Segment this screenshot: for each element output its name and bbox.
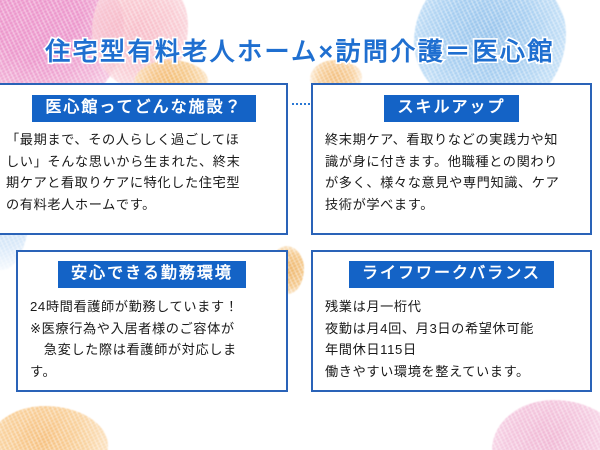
card-facility-banner-row: 医心館ってどんな施設？ [0, 95, 286, 122]
card-balance-banner-row: ライフワークバランス [313, 261, 590, 288]
card-facility: 医心館ってどんな施設？ 「最期まで、その人らしく過ごしてほ しい」そんな思いから… [0, 83, 288, 235]
card-workplace-heading: 安心できる勤務環境 [58, 261, 246, 288]
card-workplace-banner-row: 安心できる勤務環境 [18, 261, 286, 288]
card-workplace-body: 24時間看護師が勤務しています！ ※医療行為や入居者様のご容体が 急変した際は看… [18, 296, 286, 382]
card-skill: スキルアップ 終末期ケア、看取りなどの実践力や知 識が身に付きます。他職種との関… [311, 83, 592, 235]
page-title: 住宅型有料老人ホーム×訪問介護＝医心館 [0, 32, 600, 68]
card-facility-body: 「最期まで、その人らしく過ごしてほ しい」そんな思いから生まれた、終末 期ケアと… [0, 129, 286, 215]
card-balance-body: 残業は月一桁代 夜勤は月4回、月3日の希望休可能 年間休日115日 働きやすい環… [313, 296, 590, 382]
card-skill-body: 終末期ケア、看取りなどの実践力や知 識が身に付きます。他職種との関わり が多く、… [313, 129, 590, 215]
crayon-blob-pink-bottom-right [492, 400, 600, 450]
card-balance: ライフワークバランス 残業は月一桁代 夜勤は月4回、月3日の希望休可能 年間休日… [311, 250, 592, 392]
card-facility-heading: 医心館ってどんな施設？ [32, 95, 255, 122]
card-balance-heading: ライフワークバランス [349, 261, 554, 288]
card-skill-heading: スキルアップ [384, 95, 518, 122]
card-skill-banner-row: スキルアップ [313, 95, 590, 122]
card-workplace: 安心できる勤務環境 24時間看護師が勤務しています！ ※医療行為や入居者様のご容… [16, 250, 288, 392]
dotted-connector [292, 103, 310, 105]
crayon-blob-orange-bottom-left [0, 406, 108, 450]
poster-canvas: 住宅型有料老人ホーム×訪問介護＝医心館 医心館ってどんな施設？ 「最期まで、その… [0, 0, 600, 450]
